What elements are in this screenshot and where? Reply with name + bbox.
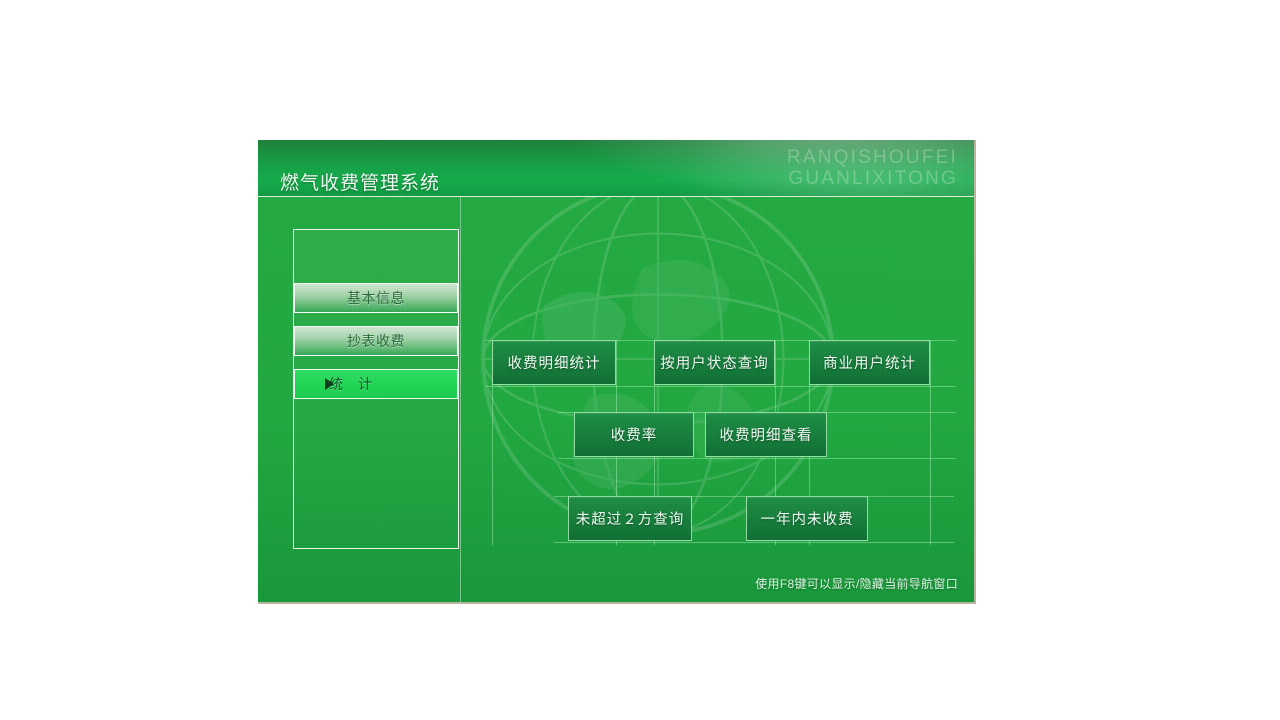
- button-label: 收费明细统计: [508, 352, 601, 373]
- button-charge-rate[interactable]: 收费率: [574, 412, 694, 457]
- application-window: 燃气收费管理系统 RANQISHOUFEI GUANLIXITONG: [258, 140, 976, 604]
- pinyin-line-2: GUANLIXITONG: [787, 168, 958, 189]
- title-bar: 燃气收费管理系统 RANQISHOUFEI GUANLIXITONG: [258, 140, 976, 196]
- sidebar-item-label: 基本信息: [347, 288, 405, 308]
- button-under-two-cubic-query[interactable]: 未超过２方查询: [568, 496, 692, 541]
- guide-line: [930, 340, 931, 545]
- button-query-by-user-status[interactable]: 按用户状态查询: [654, 340, 775, 385]
- button-unpaid-within-one-year[interactable]: 一年内未收费: [746, 496, 868, 541]
- nav-content-divider: [460, 197, 461, 602]
- pinyin-watermark: RANQISHOUFEI GUANLIXITONG: [787, 147, 958, 189]
- navigation-panel: 基本信息 抄表收费 统 计: [293, 229, 459, 549]
- button-label: 一年内未收费: [761, 508, 854, 529]
- guide-line: [486, 386, 956, 387]
- sidebar-item-label: 统 计: [329, 374, 373, 394]
- button-charge-detail-statistics[interactable]: 收费明细统计: [492, 340, 616, 385]
- guide-line: [554, 542, 954, 543]
- page-title: 燃气收费管理系统: [280, 168, 440, 195]
- footer-hint-text: 使用F8键可以显示/隐藏当前导航窗口: [755, 575, 958, 592]
- button-view-charge-details[interactable]: 收费明细查看: [705, 412, 827, 457]
- guide-line: [558, 458, 956, 459]
- button-label: 按用户状态查询: [660, 352, 769, 373]
- button-label: 收费明细查看: [720, 424, 813, 445]
- window-body: 基本信息 抄表收费 统 计 收费明细统计 按用户状态查询: [258, 197, 976, 602]
- button-commercial-user-statistics[interactable]: 商业用户统计: [809, 340, 930, 385]
- button-label: 未超过２方查询: [576, 508, 685, 529]
- sidebar-item-label: 抄表收费: [347, 331, 405, 351]
- button-label: 收费率: [611, 424, 658, 445]
- pinyin-line-1: RANQISHOUFEI: [787, 147, 958, 168]
- triangle-right-icon: [325, 378, 334, 390]
- sidebar-item-basic-info[interactable]: 基本信息: [294, 283, 458, 313]
- sidebar-item-statistics[interactable]: 统 计: [294, 369, 458, 399]
- button-label: 商业用户统计: [823, 352, 916, 373]
- sidebar-item-meter-billing[interactable]: 抄表收费: [294, 326, 458, 356]
